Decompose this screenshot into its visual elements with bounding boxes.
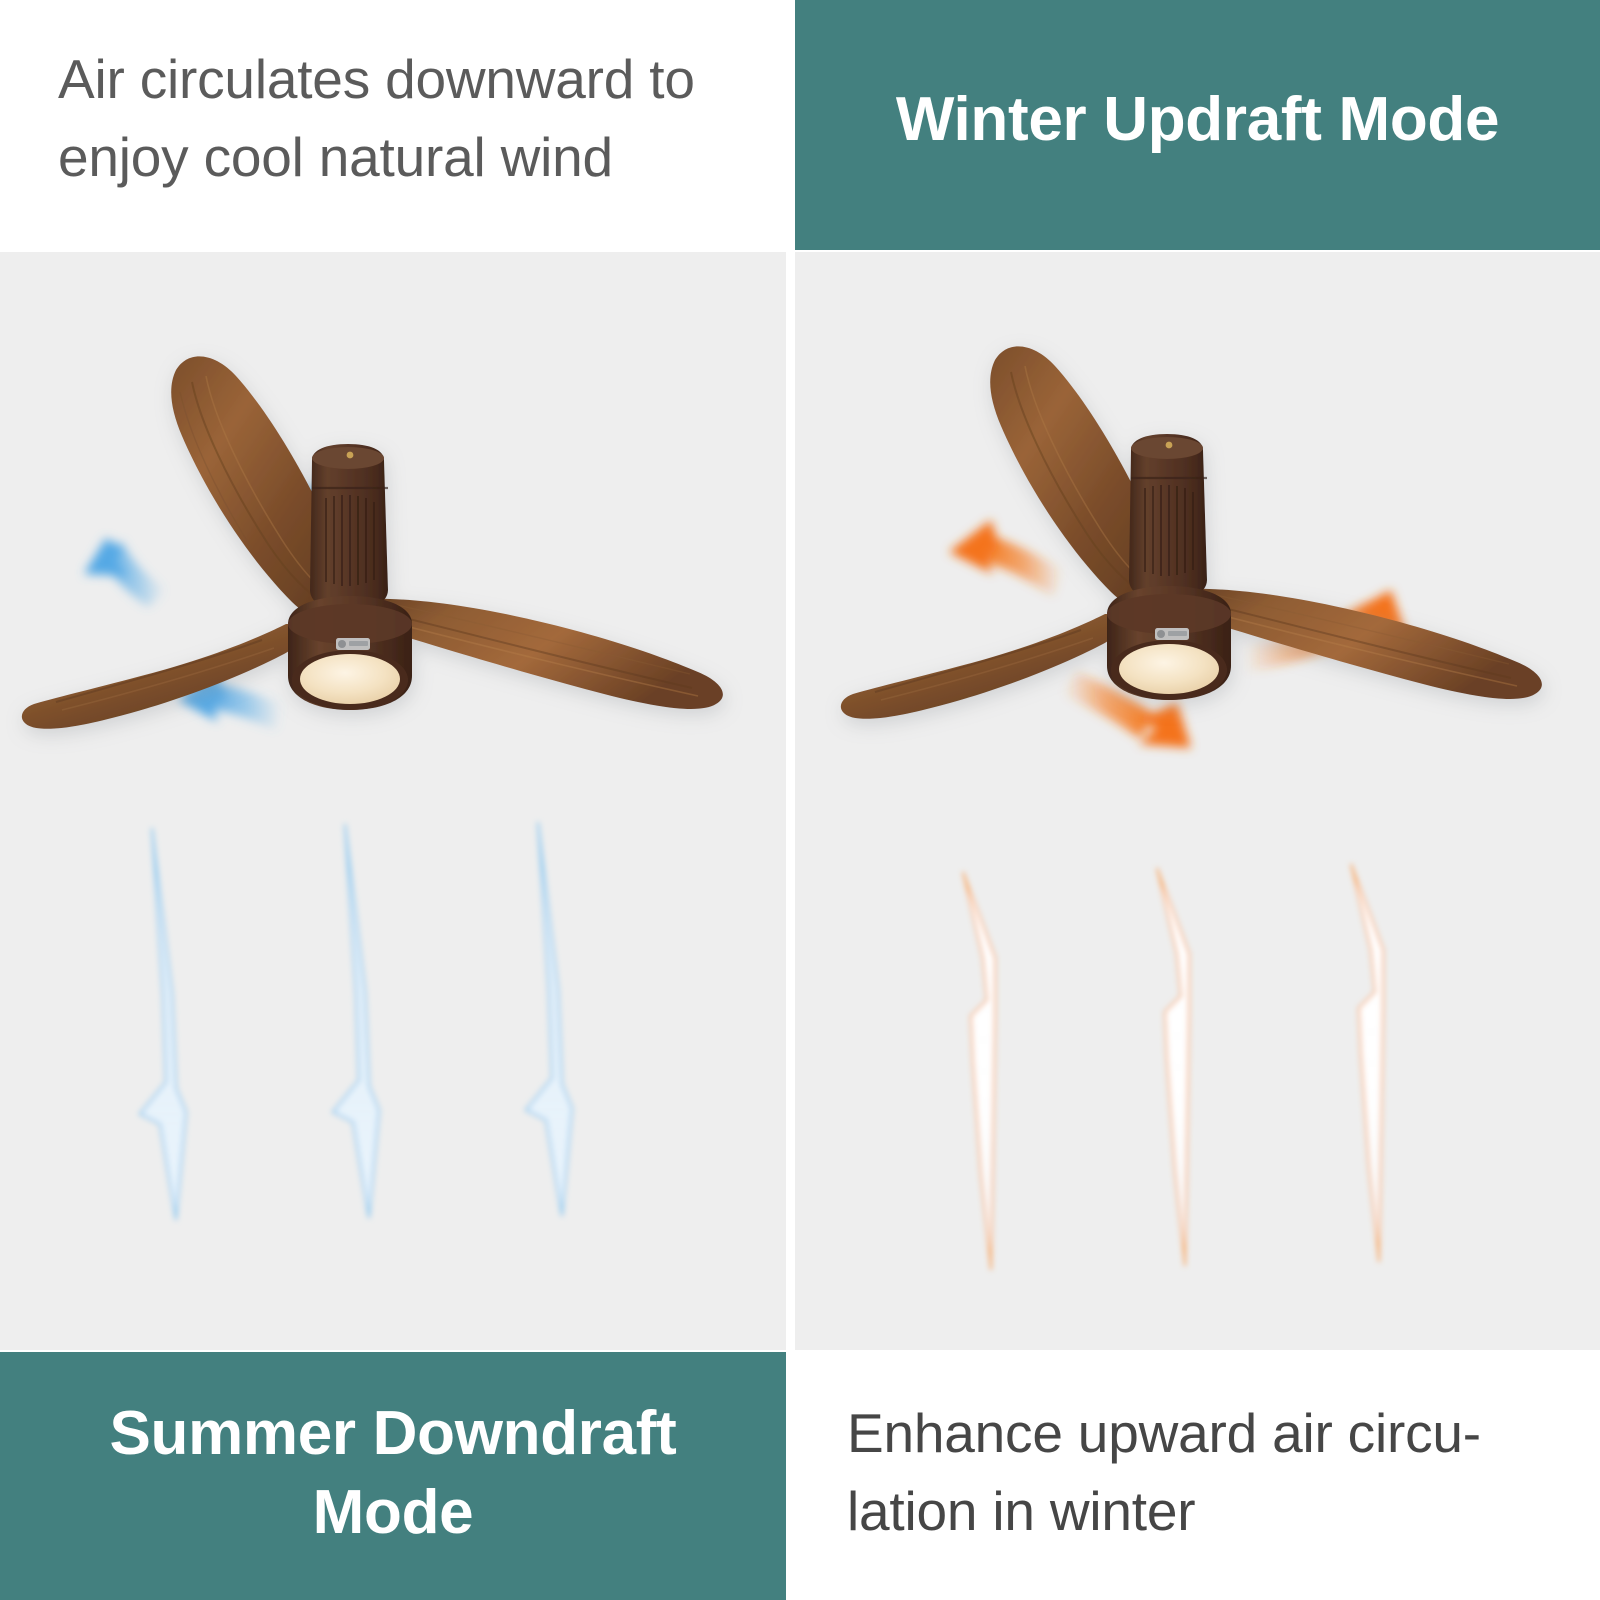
housing-vent-slots xyxy=(1145,485,1193,576)
panel-background xyxy=(0,252,786,1350)
led-light-dome xyxy=(1119,644,1219,694)
winter-caption-text: Enhance upward air circu- lation in wint… xyxy=(847,1394,1548,1550)
winter-fan-illustration xyxy=(795,252,1600,1350)
infographic-root: Air circulates downward to enjoy cool na… xyxy=(0,0,1600,1600)
housing-vent-slots xyxy=(326,495,374,586)
brand-logo-badge xyxy=(1155,628,1189,640)
brand-logo-badge xyxy=(336,638,370,650)
winter-heading-panel: Winter Updraft Mode xyxy=(795,0,1600,250)
summer-heading-text: Summer Downdraft Mode xyxy=(22,1394,764,1553)
winter-heading-text: Winter Updraft Mode xyxy=(896,80,1499,159)
summer-fan-figure xyxy=(0,252,786,1350)
summer-caption-text: Air circulates downward to enjoy cool na… xyxy=(58,40,728,196)
housing-screw xyxy=(1166,442,1173,449)
panel-background xyxy=(795,252,1600,1350)
winter-caption-panel: Enhance upward air circu- lation in wint… xyxy=(795,1352,1600,1600)
winter-fan-figure xyxy=(795,252,1600,1350)
housing-screw xyxy=(347,452,354,459)
summer-caption-panel: Air circulates downward to enjoy cool na… xyxy=(0,0,786,250)
summer-fan-illustration xyxy=(0,252,786,1350)
summer-heading-panel: Summer Downdraft Mode xyxy=(0,1352,786,1600)
led-light-dome xyxy=(300,654,400,704)
